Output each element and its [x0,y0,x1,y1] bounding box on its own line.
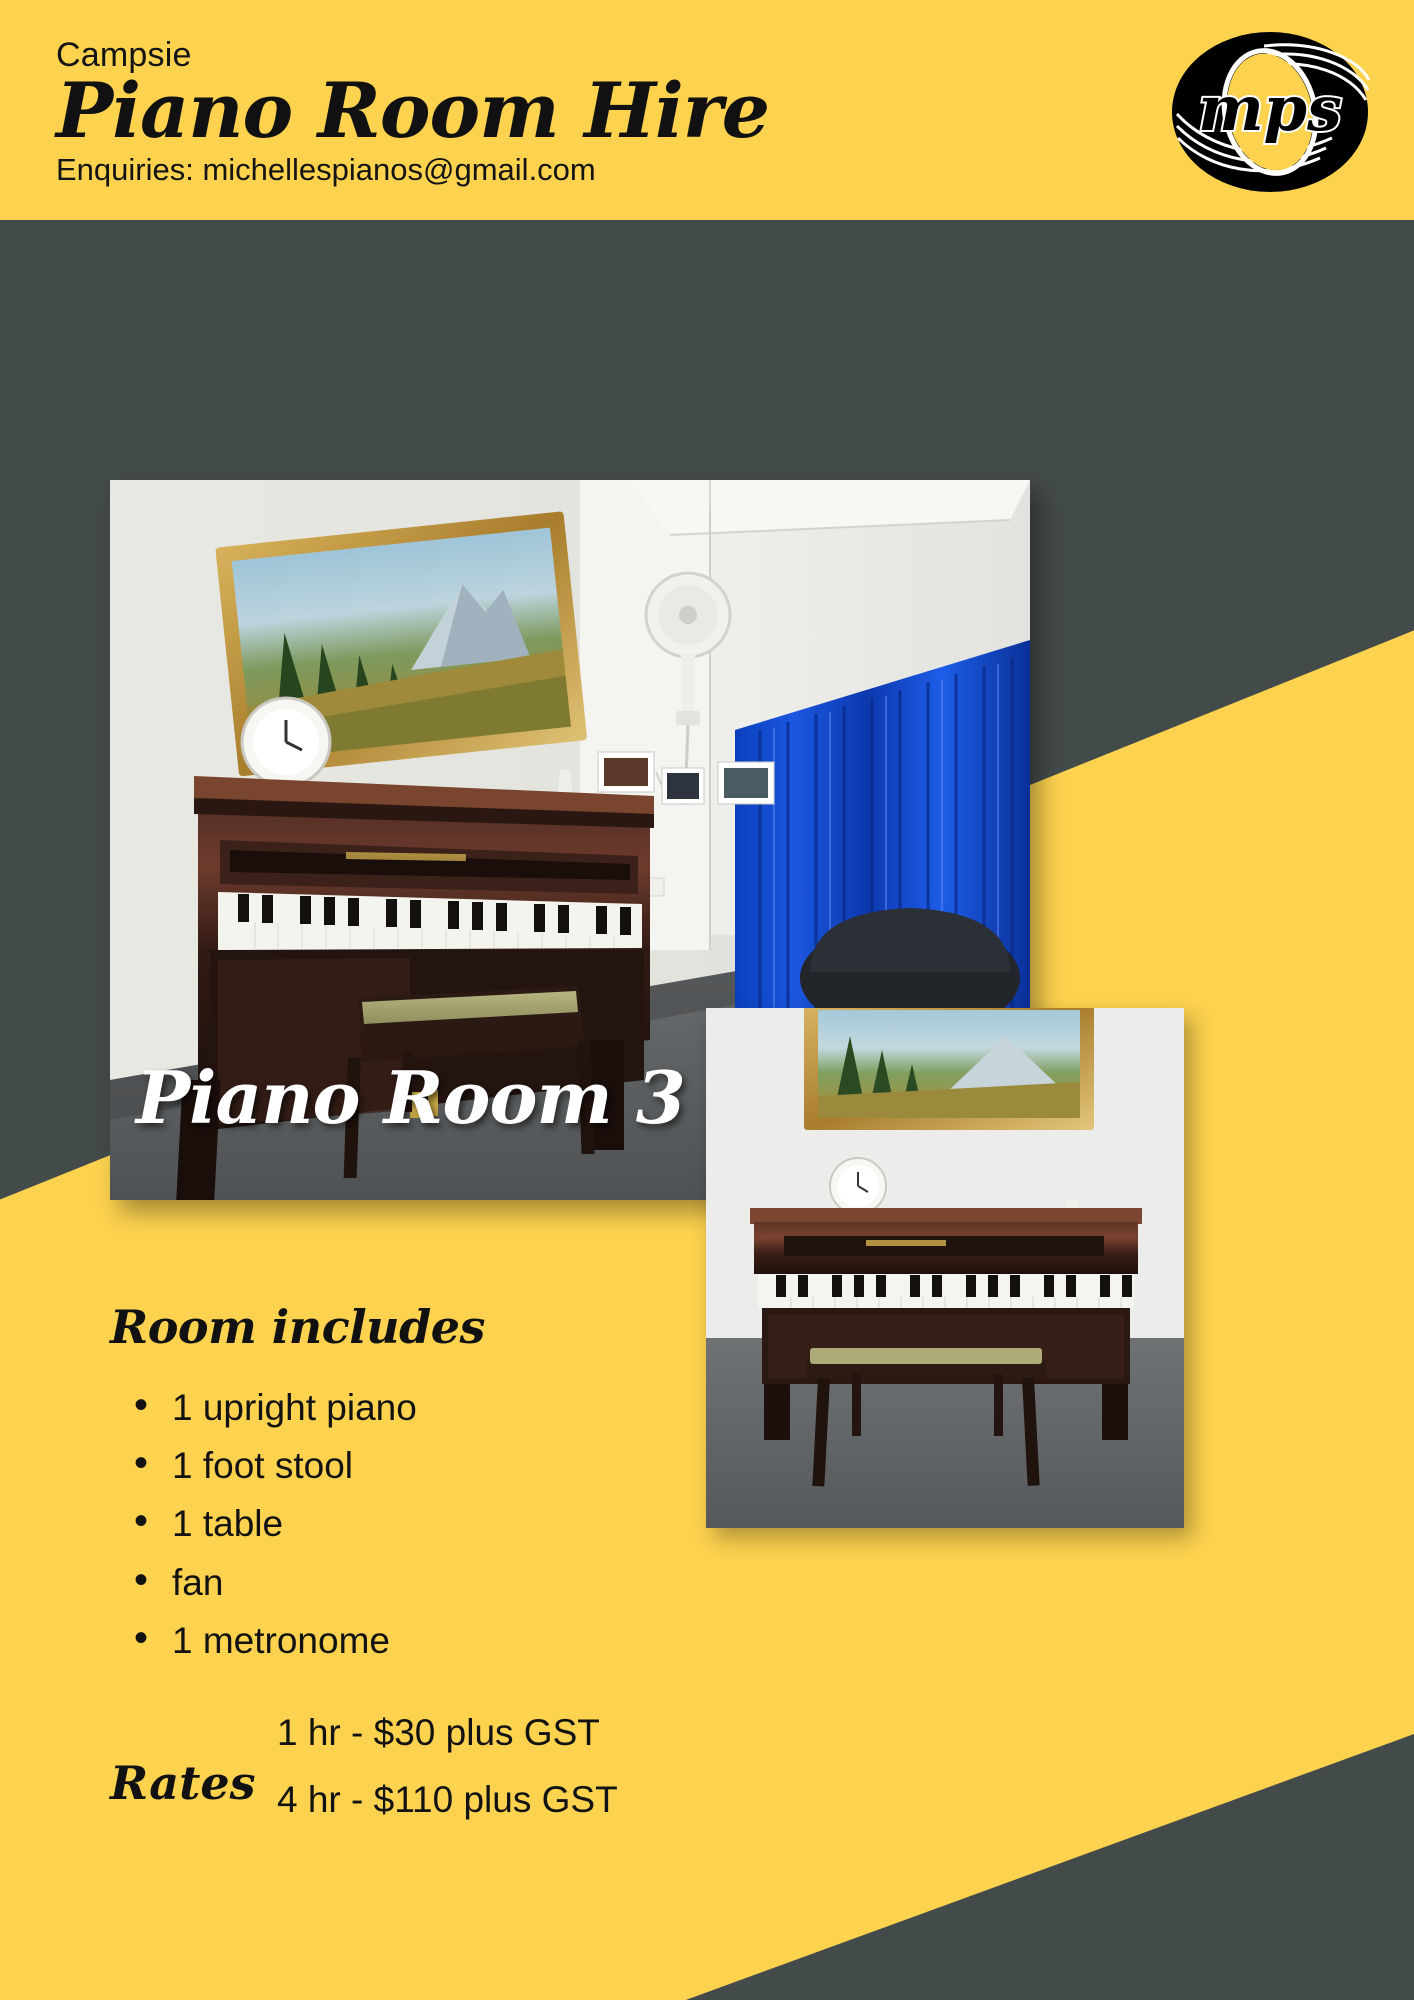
rates-section: Rates 1 hr - $30 plus GST 4 hr - $110 pl… [110,1714,710,1818]
photo-caption: Piano Room 3 [136,1055,685,1140]
list-item: 1 table [110,1504,710,1543]
mps-logo: mps [1170,30,1370,195]
header-band: Campsie Piano Room Hire Enquiries: miche… [0,0,1414,220]
list-item: 1 foot stool [110,1446,710,1485]
piano-room-front-photo [706,1008,1184,1528]
rates-lines: 1 hr - $30 plus GST 4 hr - $110 plus GST [277,1714,618,1818]
mps-logo-wordmark: mps [1198,72,1342,145]
rate-line: 4 hr - $110 plus GST [277,1781,618,1818]
room-info-column: Room includes 1 upright piano 1 foot sto… [110,1300,710,1818]
list-item: 1 upright piano [110,1388,710,1427]
header-text-group: Campsie Piano Room Hire Enquiries: miche… [56,38,769,187]
rate-line: 1 hr - $30 plus GST [277,1714,618,1751]
room-includes-heading: Room includes [110,1300,710,1354]
room-includes-list: 1 upright piano 1 foot stool 1 table fan… [110,1388,710,1660]
list-item: 1 metronome [110,1621,710,1660]
rates-heading: Rates [110,1756,255,1810]
page-title: Piano Room Hire [56,72,769,150]
enquiries-email-line: Enquiries: michellespianos@gmail.com [56,153,769,187]
list-item: fan [110,1563,710,1602]
